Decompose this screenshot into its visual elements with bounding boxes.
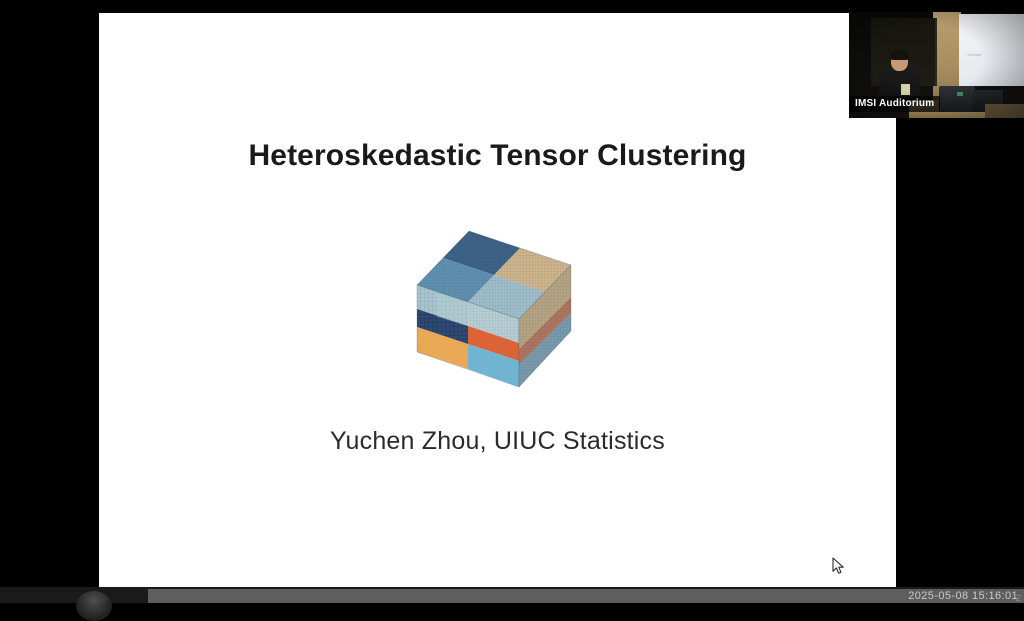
page-title: Heteroskedastic Tensor Clustering [99,139,896,173]
tensor-cube-figure [399,209,589,389]
slide-author-line: Yuchen Zhou, UIUC Statistics [99,427,896,456]
timestamp-label: 2025-05-08 15:16:01 [908,590,1018,602]
video-player-stage: Heteroskedastic Tensor Clustering [0,0,1024,603]
play-button-icon[interactable] [76,591,112,621]
player-control-bar[interactable]: 2025-05-08 15:16:01 2 [0,587,1024,603]
webcam-overlay[interactable]: Yuchen IMSI Auditorium [849,12,1024,118]
page-number-indicator: 2 [1016,593,1021,603]
presentation-slide: Heteroskedastic Tensor Clustering [99,13,896,588]
webcam-source-label: IMSI Auditorium [849,96,940,112]
mouse-pointer-icon [832,557,846,575]
progress-bar[interactable]: 2025-05-08 15:16:01 [148,589,1024,603]
